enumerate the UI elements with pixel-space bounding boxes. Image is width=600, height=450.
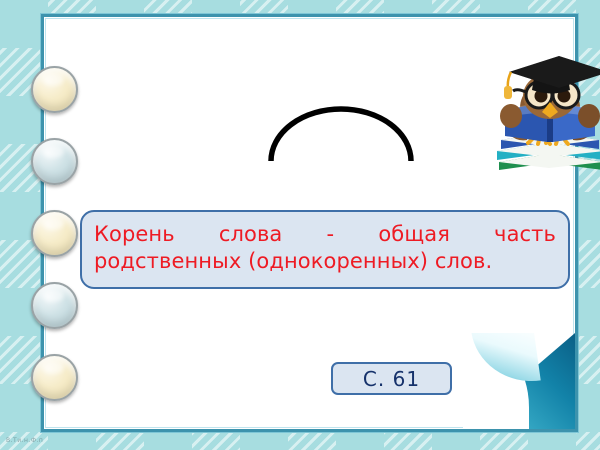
side-button-4[interactable] — [31, 282, 78, 329]
root-arc-symbol — [266, 103, 416, 165]
side-button-3[interactable] — [31, 210, 78, 257]
owl-right-hand — [578, 104, 600, 128]
watermark-text: В.Ти.н.Ф.п — [6, 437, 43, 444]
definition-callout: Корень слова - общая часть родственных (… — [80, 210, 570, 289]
side-button-5[interactable] — [31, 354, 78, 401]
slide-root: Корень слова - общая часть родственных (… — [0, 0, 600, 450]
definition-text: Корень слова - общая часть родственных (… — [94, 221, 556, 276]
side-button-2[interactable] — [31, 138, 78, 185]
graduation-cap — [509, 56, 600, 94]
side-button-1[interactable] — [31, 66, 78, 113]
owl-scholar-icon — [487, 50, 600, 178]
cap-tassel — [504, 72, 512, 99]
page-reference-badge: С. 61 — [331, 362, 452, 395]
owl-left-hand — [500, 104, 522, 128]
page-curl-corner — [463, 333, 575, 429]
